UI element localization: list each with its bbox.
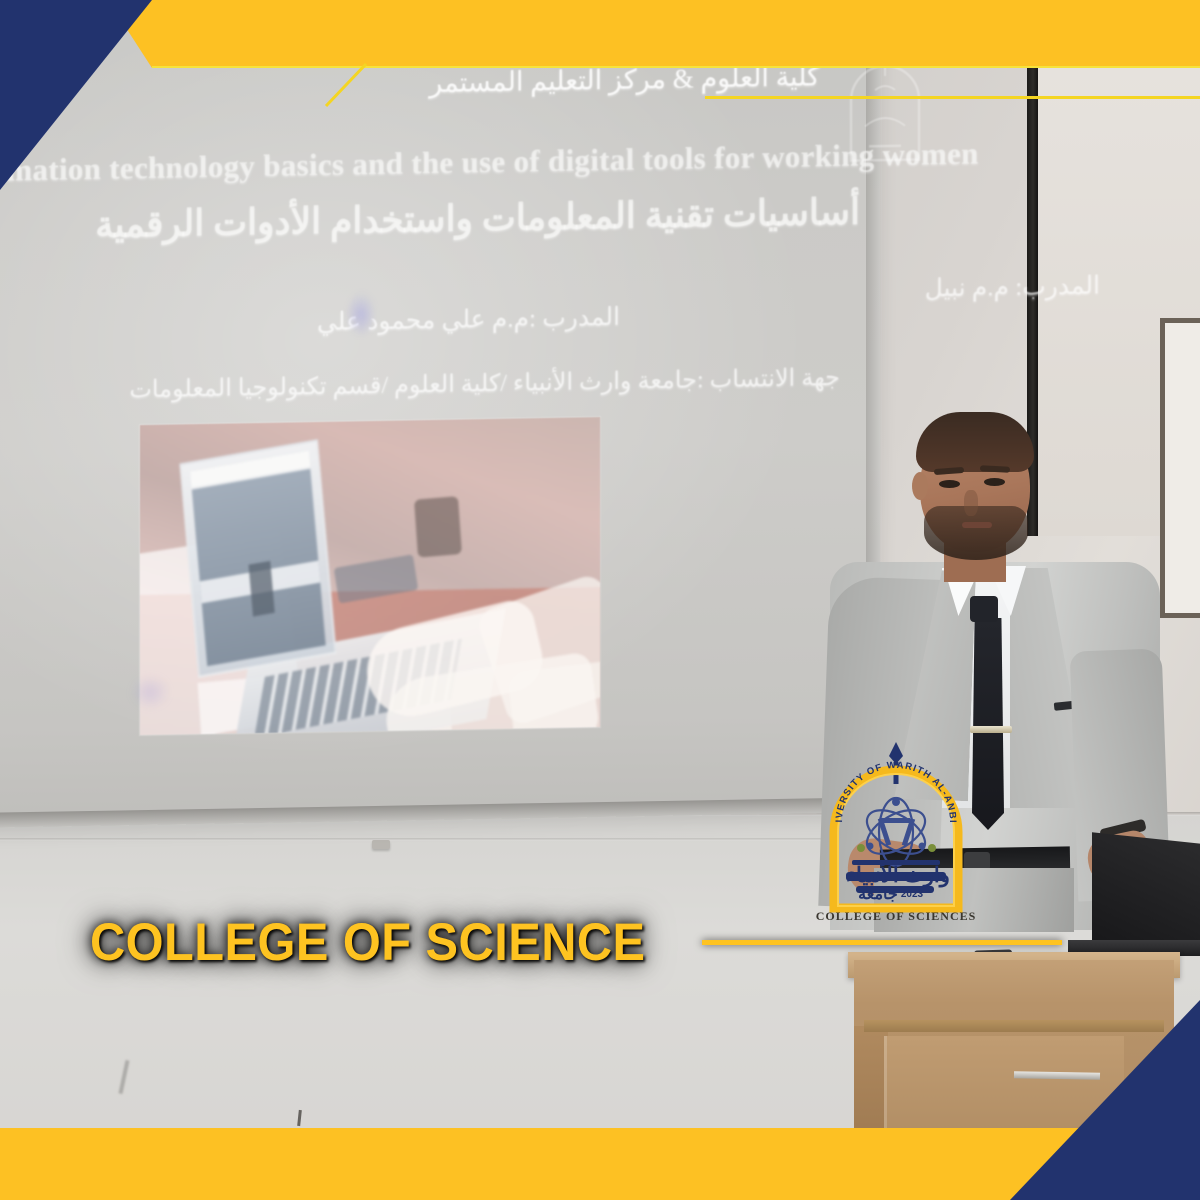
slide-photo-haze	[140, 417, 600, 735]
presenter-nose	[964, 490, 978, 516]
slide-affiliation: جهة الانتساب :جامعة وارث الأنبياء /كلية …	[129, 363, 840, 404]
slide-photo	[140, 417, 600, 735]
university-logo: UNIVERSITY OF WARITH AL-ANBIYA	[812, 736, 980, 926]
wall-seam-secondary	[0, 838, 900, 841]
slide-title-english: Information technology basics and the us…	[0, 135, 979, 189]
top-band-edge-line	[152, 66, 1200, 68]
diagonal-accent-line	[324, 62, 368, 108]
lectern-metal-strip	[1014, 1071, 1100, 1079]
logo-arabic-name: وارث الأنبياء	[846, 861, 950, 888]
projector-flare	[346, 291, 376, 338]
university-crest-icon: UNIVERSITY OF WARITH AL-ANBIYA	[812, 736, 980, 926]
logo-footer-text: COLLEGE OF SCIENCES	[816, 909, 977, 923]
wall-hook	[372, 840, 390, 849]
page-title: COLLEGE OF SCIENCE	[90, 912, 646, 973]
slide-title-arabic: أساسيات تقنية المعلومات واستخدام الأدوات…	[95, 190, 860, 245]
projected-slide: كلية العلوم & مركز التعليم المستمر Infor…	[0, 0, 880, 828]
presenter-ear	[912, 472, 928, 500]
event-photograph: كلية العلوم & مركز التعليم المستمر Infor…	[0, 0, 1200, 1200]
presenter-eye-left	[939, 480, 960, 488]
bottom-yellow-band	[0, 1128, 1200, 1200]
laptop-lid	[1092, 832, 1200, 954]
presenter-hair	[916, 412, 1034, 472]
top-yellow-band	[0, 0, 1200, 68]
presenter-eye-right	[984, 478, 1005, 486]
lectern-rail	[864, 1020, 1164, 1032]
presenter-mouth	[962, 522, 992, 528]
photo-post-card: كلية العلوم & مركز التعليم المستمر Infor…	[0, 0, 1200, 1200]
slide-crest-watermark	[835, 59, 935, 169]
projector-flare-secondary	[130, 675, 170, 710]
slide-trainer-secondary: المدرب: م.م نبيل	[925, 270, 1100, 303]
presenter-beard	[924, 506, 1028, 560]
presenter-tie-clip	[970, 726, 1012, 733]
logo-year: 2023	[901, 889, 924, 900]
top-horizontal-accent-line	[705, 96, 1200, 99]
logo-arabic-jamia: جامعة	[858, 886, 898, 903]
title-underline-rule	[702, 940, 1062, 945]
presenter-tie-knot	[970, 596, 998, 622]
